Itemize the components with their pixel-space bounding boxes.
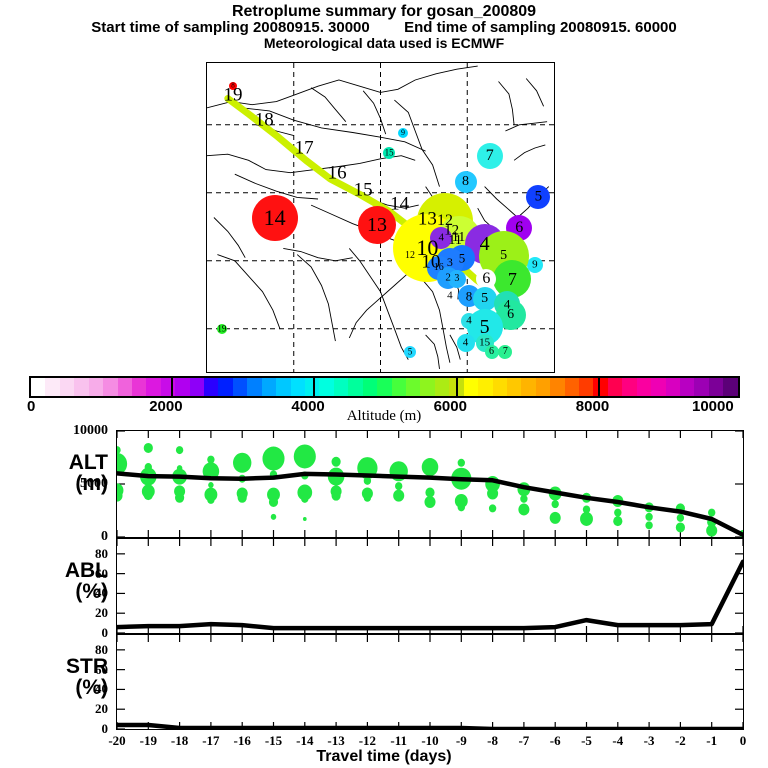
colorbar-swatch: [550, 378, 564, 396]
colorbar-swatch: [507, 378, 521, 396]
colorbar-swatch: [60, 378, 74, 396]
x-axis-tick-label: 0: [727, 733, 759, 749]
map-marker-day-label: 7: [508, 270, 517, 288]
colorbar-swatch: [723, 378, 737, 396]
colorbar-swatch: [175, 378, 189, 396]
x-axis-tick-label: -5: [571, 733, 603, 749]
map-marker-day-label: 12: [405, 251, 415, 261]
colorbar-swatch: [651, 378, 665, 396]
map-marker-day-label: 9: [401, 129, 405, 137]
x-axis-tick-label: -19: [132, 733, 164, 749]
colorbar-swatch: [493, 378, 507, 396]
abl-plot: [117, 539, 743, 633]
map-marker-day-label: 9: [532, 260, 538, 271]
x-axis-tick-label: -2: [664, 733, 696, 749]
start-time-label: Start time of sampling 20080915. 30000: [91, 20, 369, 36]
map-marker-day-label: 6: [482, 271, 490, 287]
colorbar-swatch: [637, 378, 651, 396]
x-axis-tick-label: -8: [477, 733, 509, 749]
colorbar-divider: [313, 376, 315, 398]
page-title: Retroplume summary for gosan_200809: [0, 0, 768, 20]
colorbar-swatch: [74, 378, 88, 396]
colorbar-swatch: [146, 378, 160, 396]
x-axis-tick-label: -12: [351, 733, 383, 749]
x-axis-tick-label: -17: [195, 733, 227, 749]
map-marker-day-label: 7: [486, 148, 494, 164]
map-marker-day-label: 3: [454, 274, 459, 284]
colorbar-swatch: [593, 378, 607, 396]
trajectory-day-label: 16: [328, 163, 347, 182]
str-panel[interactable]: [116, 634, 744, 730]
x-axis-tick-label: -13: [320, 733, 352, 749]
colorbar-divider: [171, 376, 173, 398]
x-axis-tick-label: -1: [696, 733, 728, 749]
map-marker-day-label: 4: [447, 291, 453, 302]
y-axis-tick-label: 0: [48, 625, 108, 641]
colorbar-swatch: [276, 378, 290, 396]
map-marker-day-label: 4: [466, 316, 472, 327]
map-marker-day-label: 19: [217, 324, 226, 333]
x-axis-tick-label: -14: [289, 733, 321, 749]
map-marker-day-label: 5: [500, 249, 507, 263]
abl-panel[interactable]: [116, 538, 744, 634]
map-marker-day-label: 14: [264, 207, 286, 229]
x-axis-tick-label: -15: [258, 733, 290, 749]
colorbar-swatch: [334, 378, 348, 396]
trajectory-day-label: 14: [390, 194, 409, 213]
colorbar-swatch: [291, 378, 305, 396]
xaxis-title: Travel time (days): [0, 748, 768, 766]
colorbar-swatch: [247, 378, 261, 396]
colorbar-swatch: [305, 378, 319, 396]
map-marker-day-label: 3: [447, 256, 453, 268]
y-axis-tick-label: 10000: [48, 423, 108, 439]
colorbar-swatch: [118, 378, 132, 396]
x-axis-tick-label: -10: [414, 733, 446, 749]
y-axis-tick-label: 40: [48, 585, 108, 601]
end-time-label: End time of sampling 20080915. 60000: [404, 20, 677, 36]
colorbar-swatch: [348, 378, 362, 396]
trajectory-day-label: 17: [295, 138, 314, 157]
y-axis-tick-label: 60: [48, 662, 108, 678]
sampling-time-line: Start time of sampling 20080915. 30000 E…: [0, 20, 768, 36]
retroplume-map[interactable]: 8141312199157856912101145765316234845464…: [206, 62, 555, 373]
colorbar-swatch: [319, 378, 333, 396]
y-axis-tick-label: 60: [48, 566, 108, 582]
y-axis-tick-label: 20: [48, 701, 108, 717]
map-marker-day-label: 5: [459, 251, 466, 264]
x-axis-tick-label: -20: [101, 733, 133, 749]
y-axis-tick-label: 20: [48, 605, 108, 621]
colorbar-swatch: [666, 378, 680, 396]
chart-title-block: Retroplume summary for gosan_200809 Star…: [0, 0, 768, 52]
altitude-colorbar: [29, 376, 740, 398]
colorbar-divider: [598, 376, 600, 398]
colorbar-swatch: [622, 378, 636, 396]
map-marker-day-label: 6: [515, 220, 523, 236]
colorbar-swatch: [262, 378, 276, 396]
x-axis-tick-label: -11: [383, 733, 415, 749]
colorbar-swatch: [103, 378, 117, 396]
y-axis-tick-label: 0: [48, 721, 108, 737]
colorbar-swatch: [464, 378, 478, 396]
x-axis-tick-label: -16: [226, 733, 258, 749]
alt-panel[interactable]: [116, 430, 744, 538]
map-marker-day-label: 7: [503, 347, 508, 357]
colorbar-swatch: [89, 378, 103, 396]
colorbar-divider: [456, 376, 458, 398]
colorbar-swatch: [31, 378, 45, 396]
colorbar-swatch: [190, 378, 204, 396]
colorbar-swatch: [579, 378, 593, 396]
colorbar-swatch: [392, 378, 406, 396]
colorbar-swatch: [132, 378, 146, 396]
x-axis-tick-label: -7: [508, 733, 540, 749]
str-plot: [117, 635, 743, 729]
met-data-label: Meteorological data used is ECMWF: [0, 36, 768, 51]
map-marker-day-label: 5: [535, 190, 543, 205]
colorbar-swatch: [420, 378, 434, 396]
colorbar-swatch: [694, 378, 708, 396]
trajectory-day-label: 19: [224, 86, 243, 105]
colorbar-swatch: [204, 378, 218, 396]
x-axis-tick-label: -3: [633, 733, 665, 749]
y-axis-tick-label: 0: [48, 529, 108, 545]
map-marker-day-label: 4: [463, 337, 469, 348]
x-axis-tick-label: -4: [602, 733, 634, 749]
colorbar-swatch: [536, 378, 550, 396]
colorbar-swatch: [363, 378, 377, 396]
alt-plot: [117, 431, 743, 537]
colorbar-swatch: [45, 378, 59, 396]
y-axis-tick-label: 80: [48, 642, 108, 658]
colorbar-swatch: [218, 378, 232, 396]
map-marker-day-label: 8: [466, 290, 473, 303]
y-axis-tick-label: 80: [48, 546, 108, 562]
y-axis-tick-label: 5000: [48, 476, 108, 492]
map-marker-day-label: 6: [507, 308, 514, 322]
trajectory-day-label: 15: [354, 180, 373, 199]
y-axis-tick-label: 40: [48, 681, 108, 697]
colorbar-swatch: [478, 378, 492, 396]
map-marker-day-label: 13: [367, 215, 387, 235]
map-marker-day-label: 5: [481, 292, 488, 306]
map-marker-day-label: 5: [480, 317, 490, 337]
map-marker-day-label: 6: [489, 347, 494, 357]
map-marker-day-label: 15: [385, 148, 394, 157]
trajectory-day-label: 13: [418, 210, 437, 229]
trajectory-day-label: 11: [448, 234, 461, 248]
colorbar-swatch: [377, 378, 391, 396]
map-marker-day-label: 5: [408, 347, 413, 356]
colorbar-swatch: [565, 378, 579, 396]
colorbar-swatch: [709, 378, 723, 396]
trajectory-day-label: 10: [421, 253, 440, 272]
colorbar-swatch: [521, 378, 535, 396]
map-marker-day-label: 8: [462, 175, 469, 189]
x-axis-tick-label: -9: [445, 733, 477, 749]
map-marker-day-label: 2: [445, 272, 451, 283]
x-axis-tick-label: -18: [164, 733, 196, 749]
x-axis-tick-label: -6: [539, 733, 571, 749]
colorbar-swatch: [608, 378, 622, 396]
map-marker-day-label: 4: [480, 234, 490, 254]
colorbar-title: Altitude (m): [0, 408, 768, 425]
colorbar-swatch: [406, 378, 420, 396]
colorbar-swatch: [233, 378, 247, 396]
colorbar-swatch: [680, 378, 694, 396]
colorbar-swatch: [435, 378, 449, 396]
trajectory-day-label: 18: [255, 111, 274, 130]
